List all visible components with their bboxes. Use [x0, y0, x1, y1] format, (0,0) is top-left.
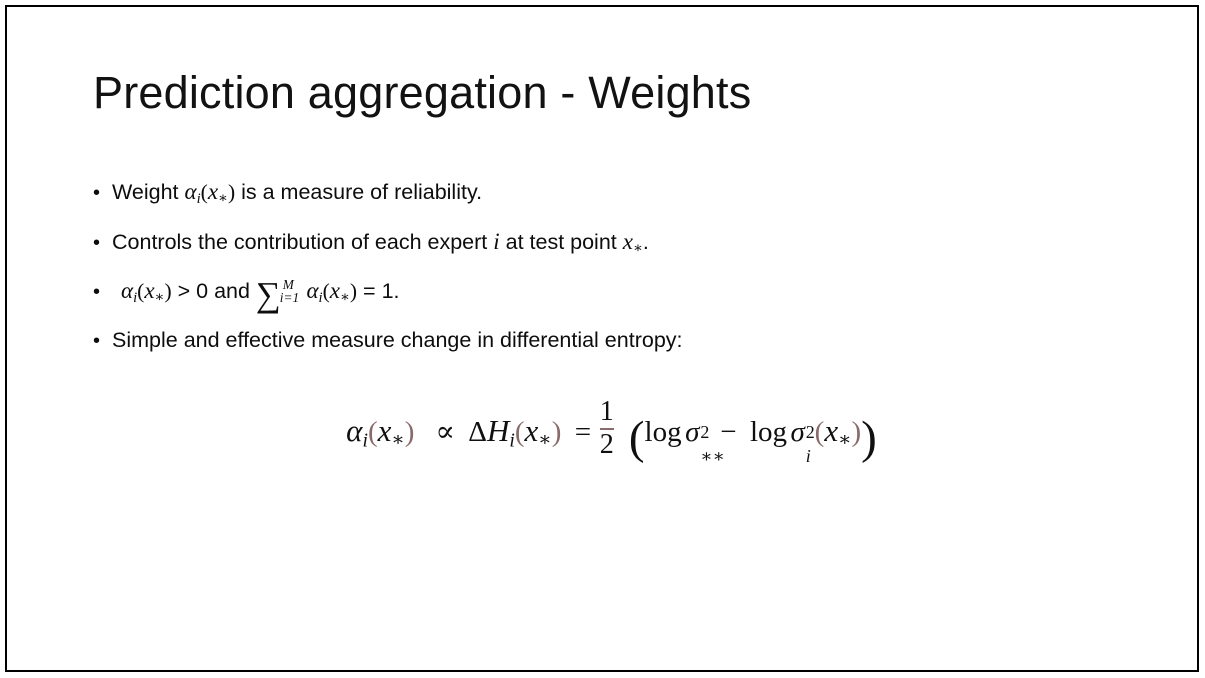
- term-two-variable-x: x: [824, 413, 838, 448]
- bullet-list: • Weight αi(x∗) is a measure of reliabil…: [93, 178, 1093, 373]
- term-two-star-subscript: ∗: [838, 429, 851, 451]
- variable-x: x: [208, 179, 218, 204]
- star-subscript: ∗: [218, 191, 228, 207]
- minus-sign: −: [717, 416, 740, 448]
- alpha-symbol-2: α: [306, 278, 318, 303]
- bullet-controls-contribution-text: Controls the contribution of each expert…: [112, 228, 1093, 258]
- summation-lower-limit: i=1: [280, 291, 299, 305]
- big-paren-open: (: [629, 412, 645, 464]
- big-paren-close: ): [861, 412, 877, 464]
- entropy-variable-x: x: [525, 413, 539, 448]
- paren-open: (: [201, 180, 208, 204]
- list-item: • Simple and effective measure change in…: [93, 328, 1093, 353]
- inner-paren-open: (: [815, 416, 825, 448]
- list-item: • Weight αi(x∗) is a measure of reliabil…: [93, 178, 1093, 208]
- log-function-1: log: [645, 416, 686, 448]
- bullet-marker-icon: •: [93, 282, 112, 302]
- greater-than-zero-text: > 0 and: [172, 279, 256, 303]
- inner-paren-close: ): [852, 416, 862, 448]
- bullet-differential-entropy-text: Simple and effective measure change in d…: [112, 328, 1093, 353]
- star-subscript-2: ∗: [340, 290, 350, 306]
- list-item: • αi(x∗) > 0 and ∑Mi=1αi(x∗) = 1.: [93, 277, 1093, 308]
- bullet-weight-reliability-text: Weight αi(x∗) is a measure of reliabilit…: [112, 178, 1093, 208]
- variable-x: x: [144, 278, 154, 303]
- summation-limits: Mi=1: [280, 278, 299, 305]
- sigma-1-superscript: 2: [700, 422, 709, 443]
- paren-close-2: ): [350, 279, 357, 303]
- text-tail: .: [643, 230, 649, 254]
- text-tail: is a measure of reliability.: [235, 180, 482, 204]
- equation-variable-x: x: [378, 413, 392, 448]
- paren-open-2: (: [323, 279, 330, 303]
- sigma-1-subscript: ∗∗: [700, 446, 724, 467]
- equals-one-text: = 1.: [357, 279, 399, 303]
- delta-symbol: Δ: [468, 416, 487, 448]
- text-lead: Weight: [112, 180, 185, 204]
- equals-sign: =: [571, 416, 594, 448]
- sigma-2-subscript: i: [806, 446, 811, 467]
- sigma-symbol-2: σ: [790, 416, 804, 448]
- list-item: • Controls the contribution of each expe…: [93, 228, 1093, 258]
- text-mid: at test point: [500, 230, 623, 254]
- variable-x: x: [623, 229, 633, 254]
- sigma-symbol-1: σ: [685, 416, 699, 448]
- equation-paren-close: ): [405, 416, 415, 448]
- alpha-symbol: α: [121, 278, 133, 303]
- entropy-h-symbol: H: [487, 413, 509, 448]
- summation-operator: ∑Mi=1: [256, 278, 299, 308]
- summation-upper-limit: M: [283, 278, 299, 292]
- presentation-slide: Prediction aggregation - Weights • Weigh…: [0, 0, 1205, 678]
- equation-star-subscript: ∗: [391, 429, 404, 451]
- equation-paren-open: (: [368, 416, 378, 448]
- equation-alpha: α: [346, 413, 362, 448]
- page-title: Prediction aggregation - Weights: [93, 68, 751, 118]
- display-equation: αi(x∗)∝ΔHi(x∗)=12(logσ2∗∗−logσ2i(x∗)): [0, 398, 1205, 460]
- star-subscript: ∗: [155, 290, 165, 306]
- variable-x-2: x: [330, 278, 340, 303]
- fraction-numerator: 1: [600, 398, 614, 427]
- star-subscript: ∗: [633, 240, 643, 256]
- sigma-2-superscript: 2: [806, 422, 815, 443]
- text-lead: Controls the contribution of each expert: [112, 230, 493, 254]
- log-function-2: log: [750, 416, 791, 448]
- proportional-to-symbol: ∝: [432, 416, 459, 448]
- one-half-fraction: 12: [600, 398, 614, 460]
- alpha-symbol: α: [185, 179, 197, 204]
- entropy-star-subscript: ∗: [538, 429, 551, 451]
- entropy-paren-open: (: [515, 416, 525, 448]
- paren-close: ): [164, 279, 171, 303]
- bullet-marker-icon: •: [93, 183, 112, 203]
- equation-content: αi(x∗)∝ΔHi(x∗)=12(logσ2∗∗−logσ2i(x∗)): [328, 398, 877, 460]
- bullet-marker-icon: •: [93, 331, 112, 351]
- bullet-alpha-constraints-text: αi(x∗) > 0 and ∑Mi=1αi(x∗) = 1.: [112, 277, 1093, 308]
- fraction-denominator: 2: [600, 431, 614, 460]
- bullet-marker-icon: •: [93, 233, 112, 253]
- entropy-paren-close: ): [552, 416, 562, 448]
- sigma-summation-icon: ∑: [256, 282, 281, 308]
